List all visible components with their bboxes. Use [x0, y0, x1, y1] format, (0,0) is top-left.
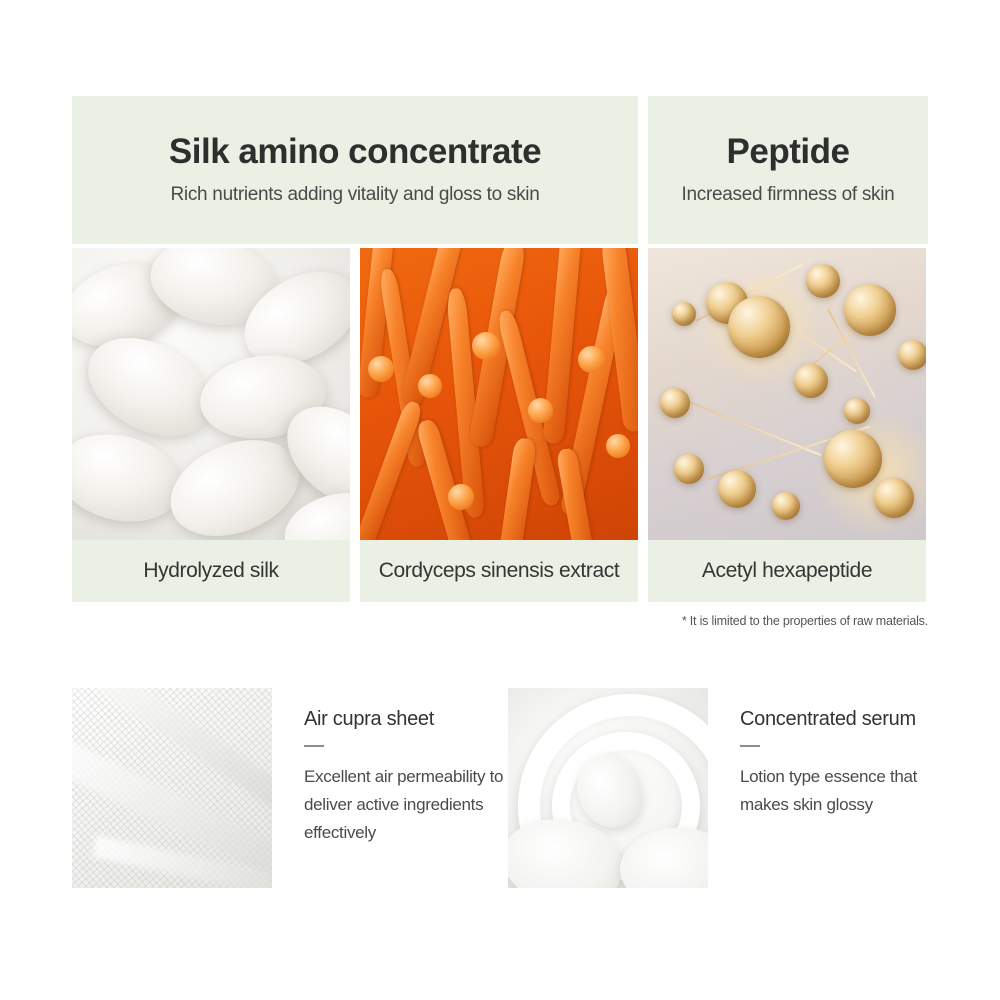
- concentrated-serum-description: Lotion type essence that makes skin glos…: [740, 763, 940, 819]
- silk-cocoons-photo: [72, 248, 350, 540]
- cordyceps-tip: [472, 332, 500, 360]
- ingredient-footnote: * It is limited to the properties of raw…: [72, 614, 928, 628]
- ingredient-header-silk: Silk amino concentrate Rich nutrients ad…: [72, 96, 638, 244]
- ingredient-header-peptide: Peptide Increased firmness of skin: [648, 96, 928, 244]
- concentrated-serum-text: Concentrated serum Lotion type essence t…: [708, 688, 940, 819]
- feature-air-cupra-sheet: Air cupra sheet Excellent air permeabili…: [72, 688, 508, 888]
- molecule-node: [794, 364, 828, 398]
- cordyceps-tip: [418, 374, 442, 398]
- ingredient-panel: Silk amino concentrate Rich nutrients ad…: [72, 96, 928, 628]
- cordyceps-tip: [606, 434, 630, 458]
- peptide-molecule-photo: [648, 248, 926, 540]
- feature-divider: [304, 745, 324, 747]
- molecule-node: [672, 302, 696, 326]
- concentrated-serum-title: Concentrated serum: [740, 708, 940, 731]
- air-cupra-sheet-description: Excellent air permeability to deliver ac…: [304, 763, 529, 847]
- cordyceps-tip: [528, 398, 553, 423]
- ingredient-caption-hydrolyzed-silk: Hydrolyzed silk: [72, 540, 350, 602]
- ingredient-photo-row: [72, 248, 928, 540]
- feature-concentrated-serum: Concentrated serum Lotion type essence t…: [508, 688, 928, 888]
- concentrated-serum-photo: [508, 688, 708, 888]
- ingredient-header-row: Silk amino concentrate Rich nutrients ad…: [72, 96, 928, 244]
- molecule-node: [728, 296, 790, 358]
- molecule-node: [824, 430, 882, 488]
- molecule-node: [844, 398, 870, 424]
- cordyceps-tip: [578, 346, 605, 373]
- molecule-node: [772, 492, 800, 520]
- ingredient-header-silk-subtitle: Rich nutrients adding vitality and gloss…: [171, 184, 540, 207]
- molecule-node: [660, 388, 690, 418]
- air-cupra-sheet-title: Air cupra sheet: [304, 708, 529, 731]
- cordyceps-photo: [360, 248, 638, 540]
- air-cupra-sheet-photo: [72, 688, 272, 888]
- molecule-node: [874, 478, 914, 518]
- cordyceps-tip: [448, 484, 474, 510]
- molecule-node: [674, 454, 704, 484]
- molecule-node: [718, 470, 756, 508]
- feature-panel: Air cupra sheet Excellent air permeabili…: [72, 688, 928, 888]
- ingredient-header-silk-title: Silk amino concentrate: [169, 133, 541, 172]
- ingredient-caption-row: Hydrolyzed silk Cordyceps sinensis extra…: [72, 540, 928, 602]
- cordyceps-tip: [368, 356, 394, 382]
- feature-divider: [740, 745, 760, 747]
- molecule-node: [898, 340, 926, 370]
- ingredient-header-peptide-subtitle: Increased firmness of skin: [682, 184, 895, 207]
- air-cupra-sheet-text: Air cupra sheet Excellent air permeabili…: [272, 688, 529, 847]
- ingredient-caption-cordyceps: Cordyceps sinensis extract: [360, 540, 638, 602]
- ingredient-header-peptide-title: Peptide: [727, 133, 850, 172]
- ingredient-caption-acetyl-hexapeptide: Acetyl hexapeptide: [648, 540, 926, 602]
- molecule-node: [806, 264, 840, 298]
- molecule-node: [844, 284, 896, 336]
